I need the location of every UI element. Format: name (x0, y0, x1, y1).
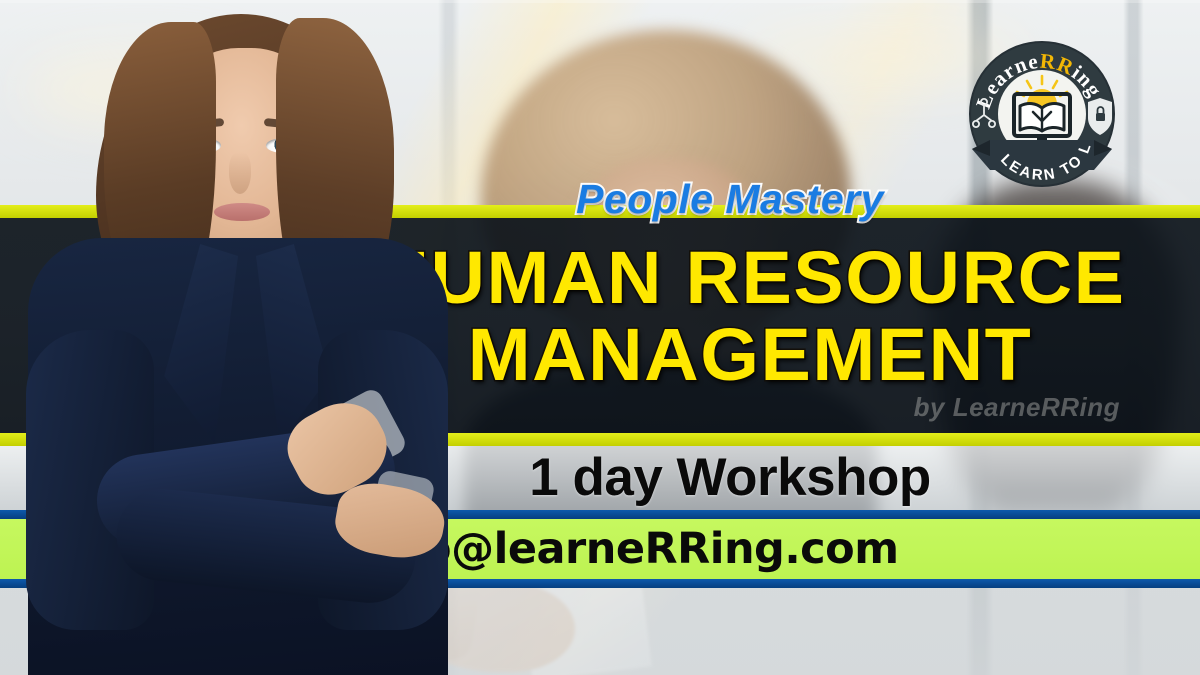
brand-logo[interactable]: LearneRRing (964, 36, 1120, 192)
kicker-text: People Mastery (410, 176, 1050, 223)
byline-text: by LearneRRing (790, 392, 1120, 423)
presenter-lips (214, 203, 270, 221)
promo-banner: People Mastery HUMAN RESOURCE MANAGEMENT… (0, 0, 1200, 675)
presenter-nose (229, 152, 251, 194)
foreground-presenter-photo (18, 0, 468, 675)
top-edge-line (0, 0, 1200, 3)
workshop-duration-text: 1 day Workshop (410, 447, 1050, 508)
open-book-icon (1020, 104, 1064, 131)
